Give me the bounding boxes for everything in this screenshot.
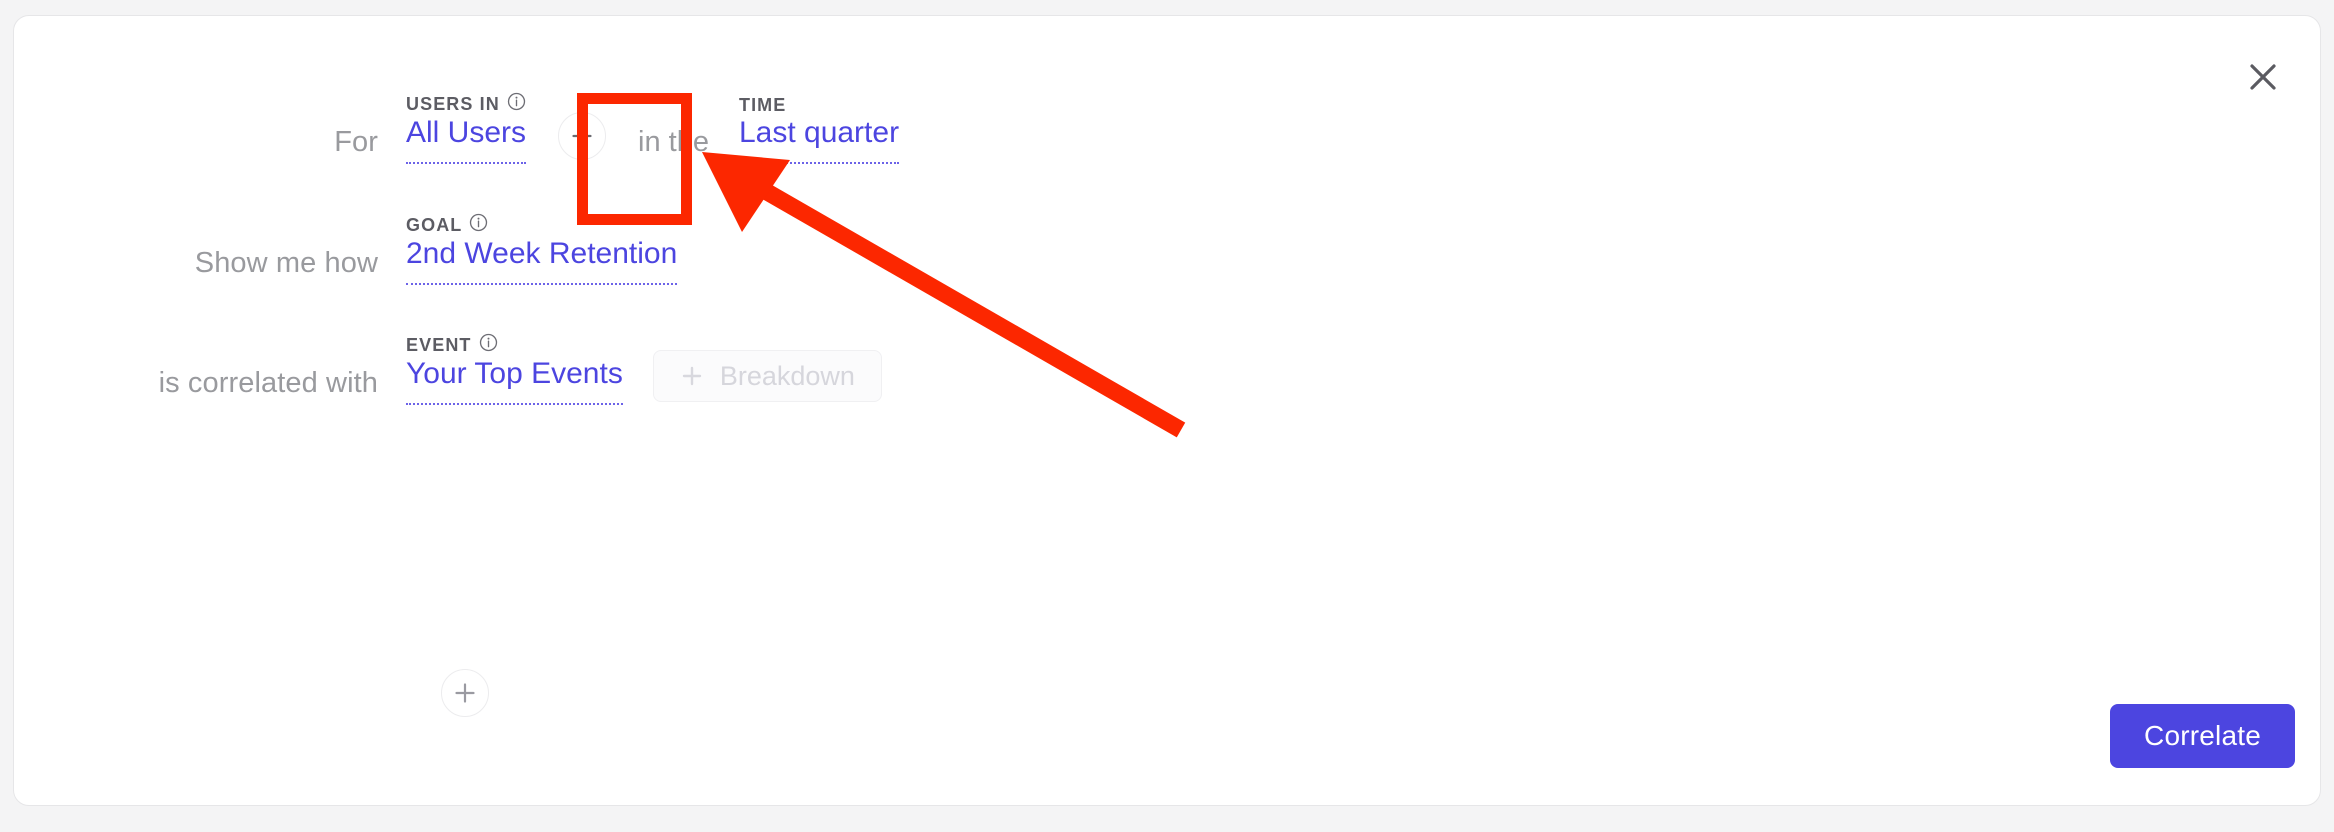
info-icon[interactable] <box>479 333 498 357</box>
field-label-text: GOAL <box>406 215 462 236</box>
add-filter-slot <box>558 112 606 160</box>
event-value[interactable]: Your Top Events <box>406 353 623 405</box>
close-button[interactable] <box>2242 56 2284 98</box>
info-icon[interactable] <box>469 213 488 237</box>
goal-value[interactable]: 2nd Week Retention <box>406 233 677 285</box>
row-prefix-for: For <box>14 120 406 164</box>
field-label-text: EVENT <box>406 335 472 356</box>
users-in-value[interactable]: All Users <box>406 112 526 164</box>
info-icon[interactable] <box>507 92 526 116</box>
field-time: TIME Last quarter <box>739 112 899 164</box>
field-label-text: TIME <box>739 95 786 116</box>
query-row-event: is correlated with EVENT Your Top Event <box>14 341 882 405</box>
query-row-goal: Show me how GOAL 2nd Week Retention <box>14 221 677 285</box>
field-event: EVENT Your Top Events <box>406 353 623 405</box>
add-breakdown-label: Breakdown <box>720 361 855 392</box>
connector-in-the: in the <box>638 120 709 164</box>
close-icon <box>2248 62 2278 92</box>
row-prefix-is-correlated-with: is correlated with <box>14 361 406 405</box>
field-label-users-in: USERS IN <box>406 92 526 116</box>
row-prefix-show-me-how: Show me how <box>14 241 406 285</box>
add-clause-slot <box>441 669 489 717</box>
field-users-in: USERS IN All Users <box>406 112 526 164</box>
add-clause-button[interactable] <box>441 669 489 717</box>
correlate-button[interactable]: Correlate <box>2110 704 2295 768</box>
query-row-users: For USERS IN All Users <box>14 100 899 164</box>
field-label-time: TIME <box>739 95 786 116</box>
plus-icon <box>452 680 478 706</box>
plus-icon <box>569 123 595 149</box>
field-label-text: USERS IN <box>406 94 500 115</box>
field-goal: GOAL 2nd Week Retention <box>406 233 677 285</box>
screen: For USERS IN All Users <box>0 0 2334 832</box>
time-value[interactable]: Last quarter <box>739 112 899 164</box>
add-filter-button[interactable] <box>558 112 606 160</box>
plus-icon <box>680 364 704 388</box>
add-breakdown-button[interactable]: Breakdown <box>653 350 882 402</box>
correlation-query-card: For USERS IN All Users <box>13 15 2321 806</box>
field-label-event: EVENT <box>406 333 498 357</box>
field-label-goal: GOAL <box>406 213 488 237</box>
